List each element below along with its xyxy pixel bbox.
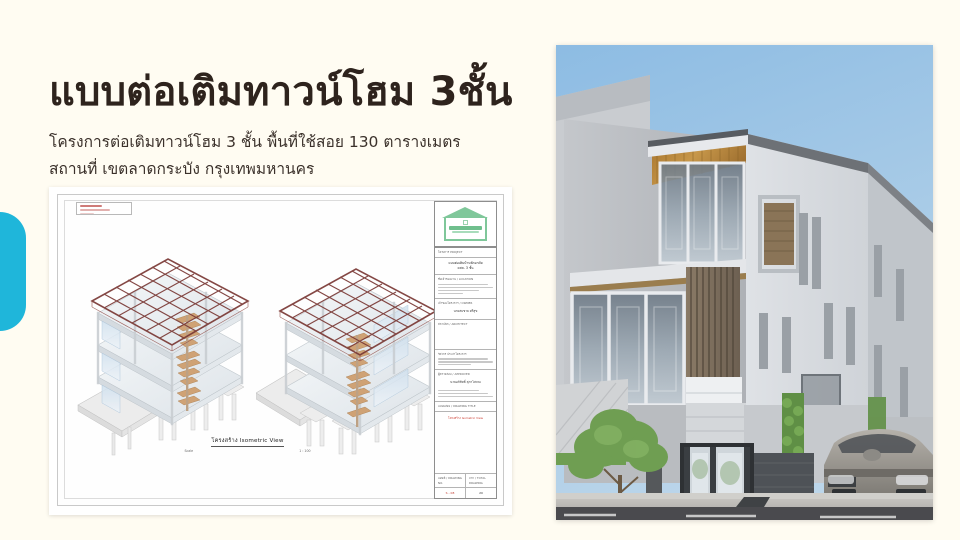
engineer-label: วิศวกร ประจำโครงการ: [438, 352, 467, 356]
sheet-total-label: จาก / TOTAL DRAWING: [466, 474, 496, 487]
title-block-logo: [435, 202, 496, 248]
drawing-title-label: แบบแสดง / DRAWING TITLE: [438, 404, 476, 408]
blueprint-sheet: โครงสร้าง Isometric View Scale 1 : 100: [57, 194, 504, 506]
sheet-values-row: S - 08 20: [435, 488, 496, 498]
logo-house-icon: [442, 207, 489, 241]
isometric-drawing-area: โครงสร้าง Isometric View Scale 1 : 100: [66, 209, 429, 497]
project-label: โครงการ PROJECT: [438, 250, 463, 254]
subtitle-line-1: โครงการต่อเติมทาวน์โฮม 3 ชั้น พื้นที่ใช้…: [49, 129, 461, 156]
sheet-no-value: S - 08: [435, 488, 466, 498]
accent-tab-shape: [0, 212, 26, 331]
approver-name: นายอภิสิทธิ์ สุภาโสภณ: [438, 377, 493, 388]
page-title: แบบต่อเติมทาวน์โฮม 3ชั้น: [49, 66, 513, 118]
townhouse-exterior-render[interactable]: [556, 45, 933, 520]
sheet-labels-row: แผ่นที่ / DRAWING NO. จาก / TOTAL DRAWIN…: [435, 474, 496, 488]
drawing-title-label-cell: แบบแสดง / DRAWING TITLE: [435, 402, 496, 412]
drawing-scale-value: 1 : 100: [299, 449, 310, 453]
drawing-title-value: โครงสร้าง Isometric View: [448, 416, 483, 420]
approver-cell: ผู้ตรวจสอบ / APPROVED นายอภิสิทธิ์ สุภาโ…: [435, 370, 496, 402]
subtitle-line-2: สถานที่ เขตลาดกระบัง กรุงเทพมหานคร: [49, 156, 461, 183]
engineer-cell: วิศวกร ประจำโครงการ: [435, 350, 496, 371]
designer-name: นายสมชาย ศรีสุข: [438, 306, 493, 317]
architect-label: สถาปนิก / ARCHITECT: [438, 322, 467, 326]
sheet-total-value: 20: [466, 488, 496, 498]
drawing-title-block: โครงการ PROJECT แบบต่อเติมบ้านพักอาศัย ค…: [434, 201, 497, 499]
designer-cell: เจ้าของโครงการ / OWNER นายสมชาย ศรีสุข: [435, 299, 496, 320]
owner-cell: ชื่อเจ้าของงาน / LOCATION: [435, 275, 496, 299]
designer-label: เจ้าของโครงการ / OWNER: [438, 301, 472, 305]
project-name-line-2: คสล. 3 ชั้น: [437, 266, 494, 271]
page-subtitle: โครงการต่อเติมทาวน์โฮม 3 ชั้น พื้นที่ใช้…: [49, 129, 461, 183]
drawing-scale-label: Scale: [185, 449, 194, 453]
architect-cell: สถาปนิก / ARCHITECT: [435, 320, 496, 350]
project-name-cell: แบบต่อเติมบ้านพักอาศัย คสล. 3 ชั้น: [435, 258, 496, 275]
project-label-cell: โครงการ PROJECT: [435, 248, 496, 258]
townhouse-render-illustration: [556, 45, 933, 520]
approver-label: ผู้ตรวจสอบ / APPROVED: [438, 372, 470, 376]
drawing-title-value-cell: โครงสร้าง Isometric View: [435, 412, 496, 474]
drawing-caption-title: โครงสร้าง Isometric View: [211, 437, 283, 447]
drawing-caption: โครงสร้าง Isometric View Scale 1 : 100: [163, 427, 333, 453]
sheet-no-label: แผ่นที่ / DRAWING NO.: [435, 474, 466, 487]
blueprint-card[interactable]: โครงสร้าง Isometric View Scale 1 : 100: [49, 187, 512, 515]
owner-label: ชื่อเจ้าของงาน / LOCATION: [438, 277, 473, 281]
